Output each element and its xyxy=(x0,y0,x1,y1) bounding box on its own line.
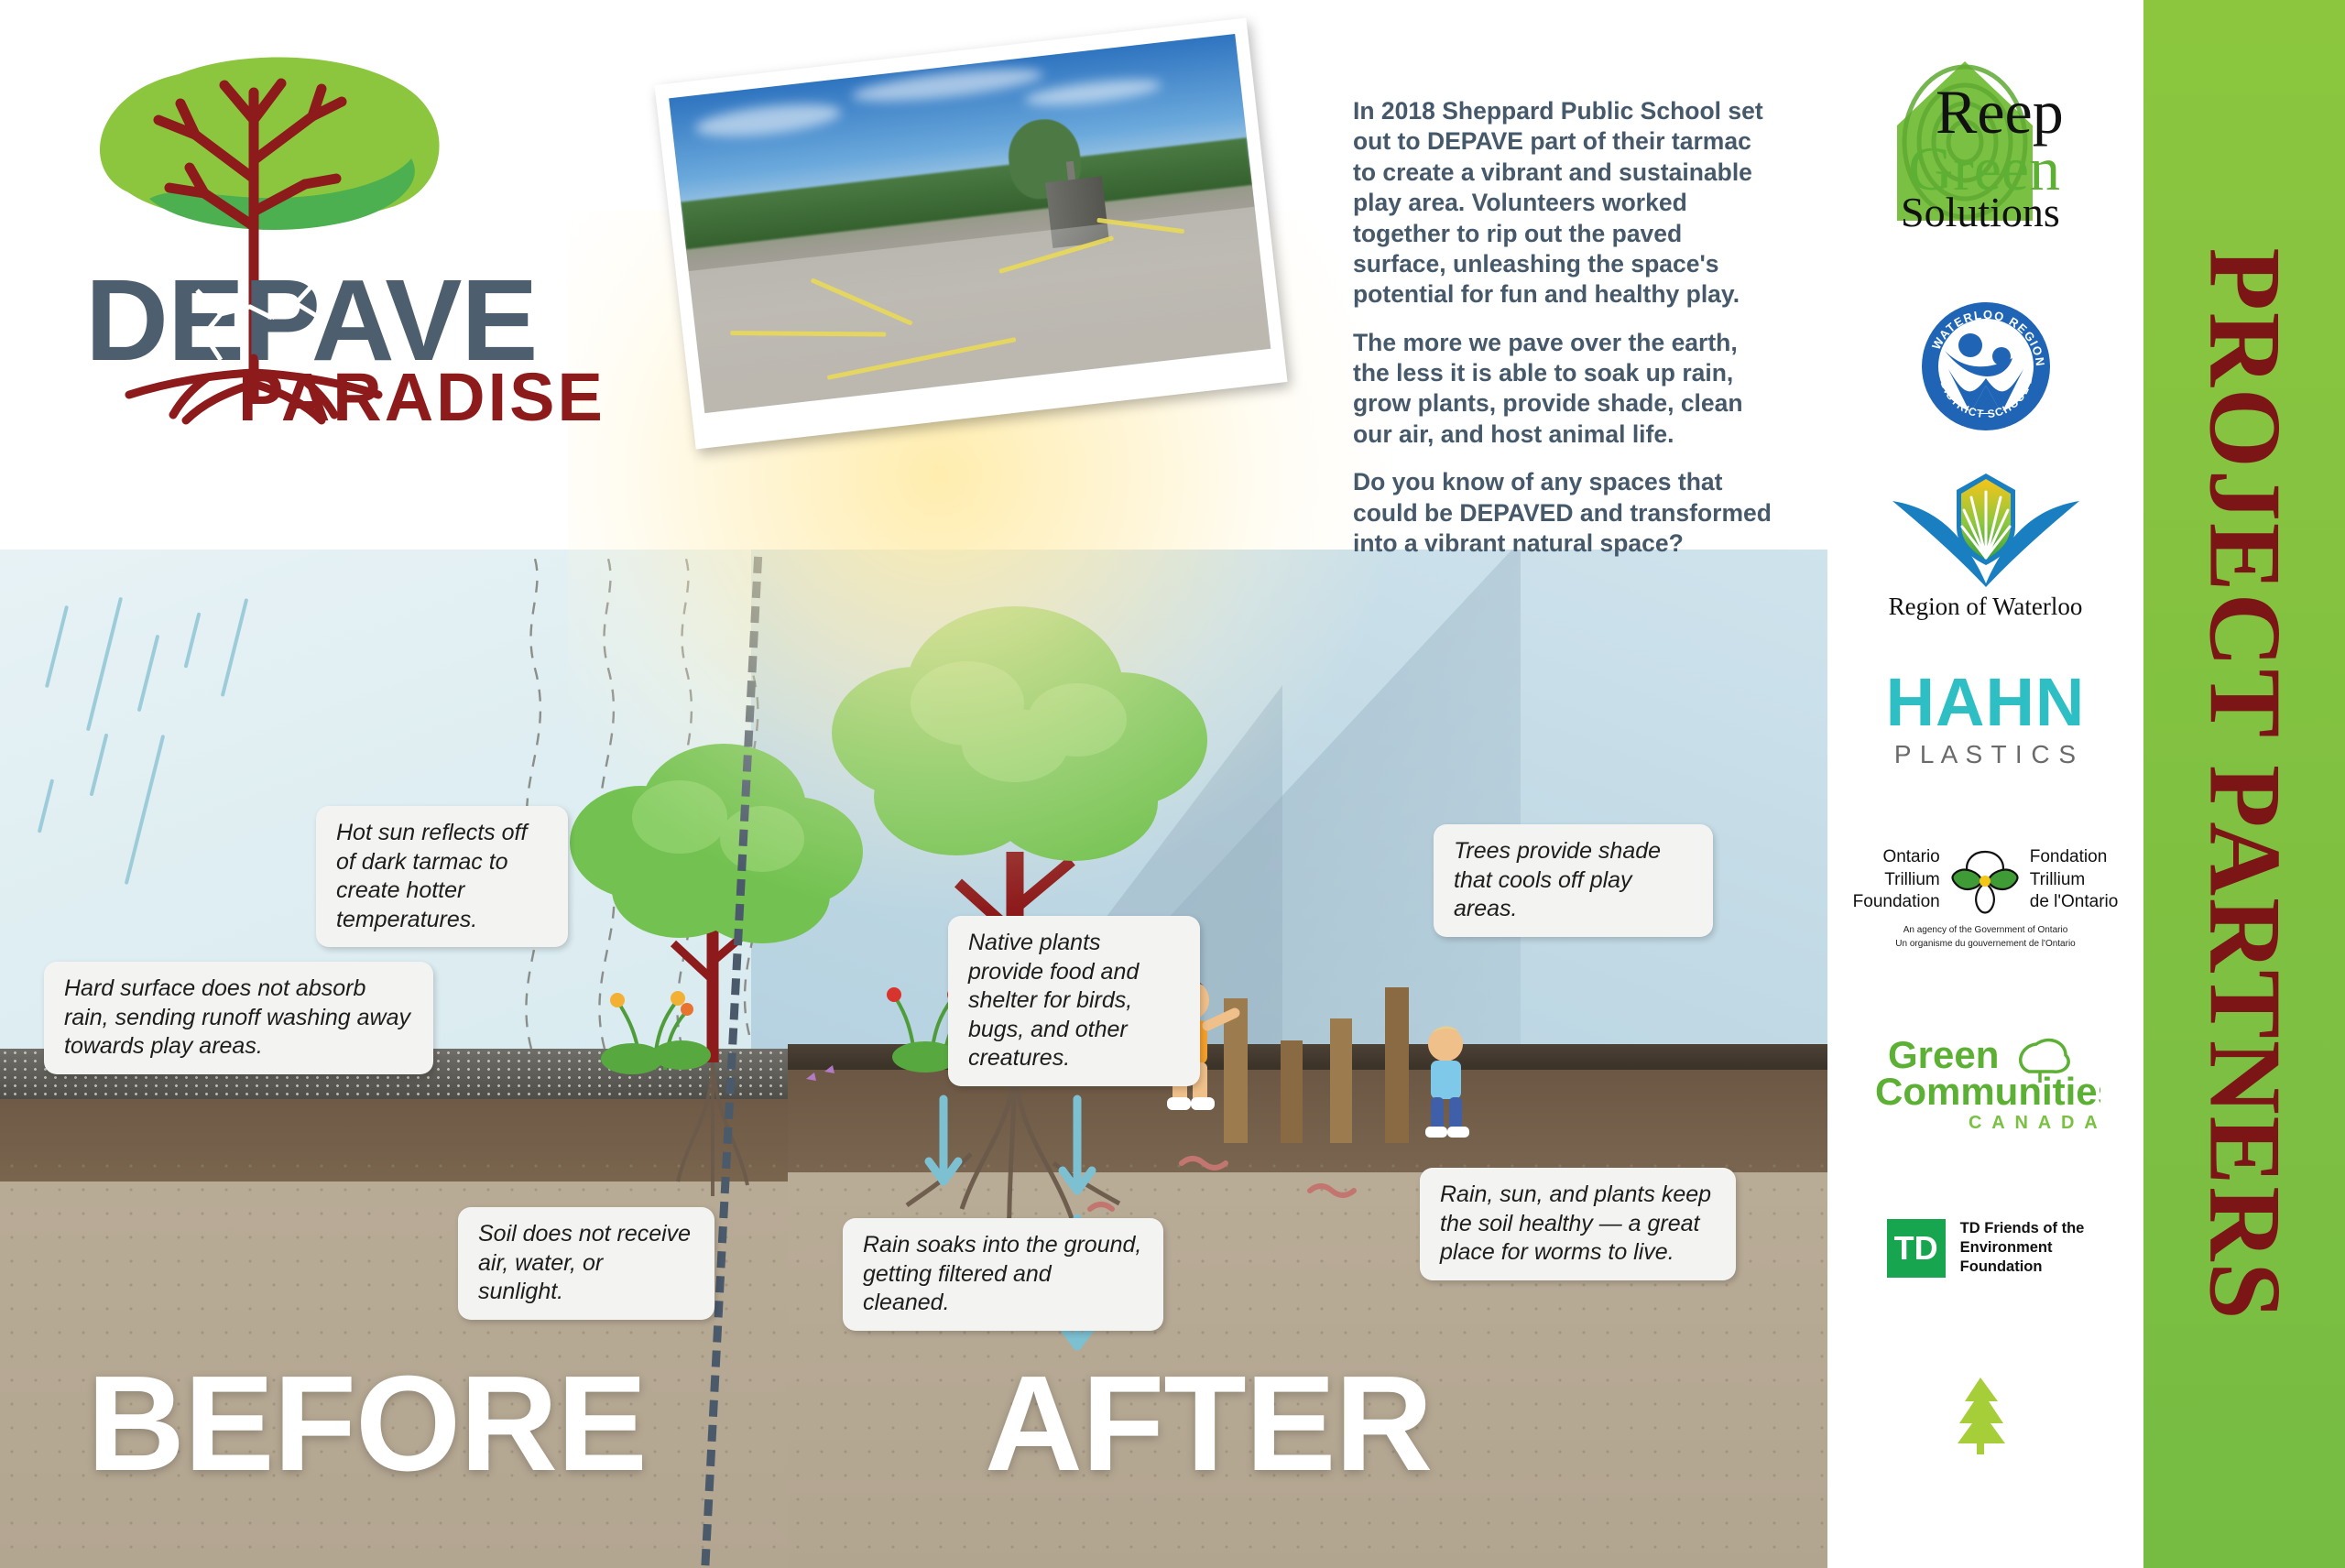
callout-trees-shade: Trees provide shade that cools off play … xyxy=(1434,824,1713,937)
callout-hot-sun: Hot sun reflects off of dark tarmac to c… xyxy=(316,806,568,947)
conifer-tree-icon xyxy=(1952,1376,2009,1454)
td-line-2: Environment xyxy=(1960,1238,2085,1258)
partner-logo-evergreen xyxy=(1827,1328,2143,1502)
otf-en-line-3: Foundation xyxy=(1853,891,1940,914)
project-partners-list: Reep Green Solutions xyxy=(1827,0,2143,1568)
callout-native-plants: Native plants provide food and shelter f… xyxy=(948,916,1200,1086)
plastics-wordmark: P L A S T I C S xyxy=(1894,740,2077,769)
region-of-waterloo-label: Region of Waterloo xyxy=(1889,593,2083,621)
before-photo-wrapper xyxy=(673,32,1296,582)
project-partners-title: PROJECT PARTNERS xyxy=(2143,0,2345,1568)
hahn-wordmark: HAHN xyxy=(1886,669,2086,736)
callout-soil-no-air: Soil does not receive air, water, or sun… xyxy=(458,1207,714,1320)
poster: Hot sun reflects off of dark tarmac to c… xyxy=(0,0,2345,1568)
otf-note-en: An agency of the Government of Ontario xyxy=(1895,923,2075,937)
callout-soil-healthy: Rain, sun, and plants keep the soil heal… xyxy=(1420,1168,1736,1280)
td-shield-mark: TD xyxy=(1887,1219,1946,1278)
gcc-line-3: C A N A D A xyxy=(1969,1113,2100,1133)
td-line-3: Foundation xyxy=(1960,1258,2085,1277)
partner-logo-region-of-waterloo: Region of Waterloo xyxy=(1827,458,2143,632)
depave-paradise-logo: DEPAVE PARADISE xyxy=(41,32,682,426)
partner-logo-green-communities-canada: Green Communities C A N A D A xyxy=(1827,989,2143,1168)
rain-streak xyxy=(137,635,160,712)
partner-logo-wrdsb: WATERLOO REGION DISTRICT SCHOOL BOARD xyxy=(1827,275,2143,458)
rain-streak xyxy=(38,779,54,833)
after-label: AFTER xyxy=(985,1346,1432,1502)
partner-logo-reep-green-solutions: Reep Green Solutions xyxy=(1827,0,2143,275)
project-partners-title-text: PROJECT PARTNERS xyxy=(2186,247,2304,1321)
intro-copy: In 2018 Sheppard Public School set out t… xyxy=(1353,96,1779,559)
waterloo-w-shield-icon xyxy=(1885,470,2087,589)
otf-en-line-1: Ontario xyxy=(1853,846,1940,869)
otf-fr-line-1: Fondation xyxy=(2030,846,2119,869)
partner-logo-td-friends-of-the-environment: TD TD Friends of the Environment Foundat… xyxy=(1827,1168,2143,1328)
otf-fr-line-3: de l'Ontario xyxy=(2030,891,2119,914)
rain-streak xyxy=(125,735,166,885)
otf-en-line-2: Trillium xyxy=(1853,869,1940,892)
before-photo-frame xyxy=(654,17,1287,449)
gcc-line-2: Communities xyxy=(1875,1070,2100,1113)
rain-streak xyxy=(45,605,69,688)
trillium-flower-icon xyxy=(1949,844,2021,916)
callout-hard-surface: Hard surface does not absorb rain, sendi… xyxy=(44,962,433,1074)
reep-line-3: Solutions xyxy=(1901,189,2060,234)
otf-fr-line-2: Trillium xyxy=(2030,869,2119,892)
copy-paragraph-3: Do you know of any spaces that could be … xyxy=(1353,467,1779,559)
rain-streak xyxy=(86,597,123,732)
copy-paragraph-1: In 2018 Sheppard Public School set out t… xyxy=(1353,96,1779,310)
rain-streak xyxy=(90,734,109,797)
partner-logo-ontario-trillium-foundation: Ontario Trillium Foundation Fondation Tr… xyxy=(1827,806,2143,989)
rain-streak xyxy=(221,598,248,697)
before-photo-image xyxy=(669,34,1271,413)
callout-rain-soaks: Rain soaks into the ground, getting filt… xyxy=(843,1218,1163,1331)
before-label: BEFORE xyxy=(87,1346,647,1502)
partner-logo-hahn-plastics: HAHN P L A S T I C S xyxy=(1827,632,2143,806)
copy-paragraph-2: The more we pave over the earth, the les… xyxy=(1353,328,1779,451)
otf-note-fr: Un organisme du gouvernement de l'Ontari… xyxy=(1895,937,2075,951)
rain-streak xyxy=(184,612,202,668)
logo-word-paradise: PARADISE xyxy=(238,359,605,426)
td-line-1: TD Friends of the xyxy=(1960,1219,2085,1238)
